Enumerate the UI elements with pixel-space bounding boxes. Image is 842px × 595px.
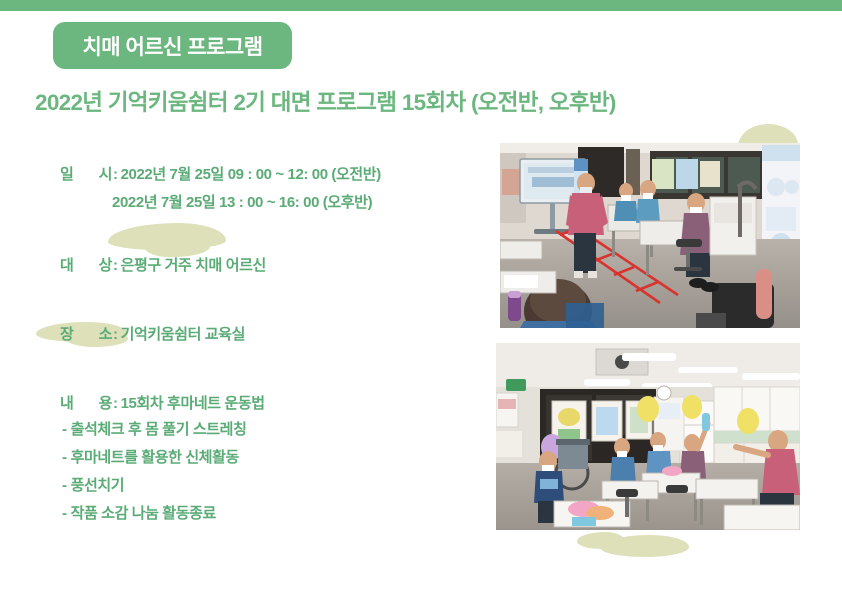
info-value-content: 15회차 후마네트 운동법: [121, 392, 265, 413]
list-item: -후마네트를 활용한 신체활동: [62, 446, 246, 467]
list-item-label: 풍선치기: [71, 477, 125, 494]
info-label-target: 대 상: [60, 254, 112, 275]
bullet-dash-icon: -: [62, 477, 71, 494]
info-row-target: 대 상 : 은평구 거주 치매 어르신: [60, 254, 381, 275]
list-item: -출석체크 후 몸 풀기 스트레칭: [62, 418, 246, 439]
bullet-dash-icon: -: [62, 505, 71, 522]
info-separator-place: :: [112, 326, 121, 343]
bullet-dash-icon: -: [62, 421, 71, 438]
program-category-badge: 치매 어르신 프로그램: [53, 22, 292, 69]
bullet-dash-icon: -: [62, 449, 71, 466]
info-label-place: 장 소: [60, 323, 112, 344]
info-label-content: 내 용: [60, 392, 112, 413]
activity-list: -출석체크 후 몸 풀기 스트레칭 -후마네트를 활용한 신체활동 -풍선치기 …: [62, 418, 246, 523]
list-item: -작품 소감 나눔 활동종료: [62, 502, 246, 523]
top-accent-bar: [0, 0, 842, 11]
info-row-datetime-second: 2022년 7월 25일 13 : 00 ~ 16: 00 (오후반): [60, 191, 381, 212]
info-separator-content: :: [112, 395, 121, 412]
program-category-label: 치매 어르신 프로그램: [82, 31, 262, 61]
list-item: -풍선치기: [62, 474, 246, 495]
list-item-label: 출석체크 후 몸 풀기 스트레칭: [71, 421, 247, 438]
info-row-datetime: 일 시 : 2022년 7월 25일 09 : 00 ~ 12: 00 (오전반…: [60, 163, 381, 184]
slide-canvas: 치매 어르신 프로그램 2022년 기억키움쉼터 2기 대면 프로그램 15회차…: [0, 0, 842, 595]
info-separator-target: :: [112, 257, 121, 274]
info-value-datetime-morning: 2022년 7월 25일 09 : 00 ~ 12: 00 (오전반): [121, 163, 381, 184]
info-value-place: 기억키움쉼터 교육실: [121, 323, 245, 344]
info-separator-datetime: :: [112, 166, 121, 183]
photo-2-illustration: [496, 343, 800, 530]
decorative-blob-4: [601, 535, 689, 557]
info-row-content: 내 용 : 15회차 후마네트 운동법: [60, 392, 381, 413]
info-label-datetime: 일 시: [60, 163, 112, 184]
photo-classroom-ladder-exercise: [500, 143, 800, 328]
program-info-block: 일 시 : 2022년 7월 25일 09 : 00 ~ 12: 00 (오전반…: [60, 163, 381, 413]
info-value-target: 은평구 거주 치매 어르신: [121, 254, 266, 275]
page-title: 2022년 기억키움쉼터 2기 대면 프로그램 15회차 (오전반, 오후반): [35, 85, 616, 117]
photo-1-illustration: [500, 143, 800, 328]
list-item-label: 작품 소감 나눔 활동종료: [71, 505, 216, 522]
list-item-label: 후마네트를 활용한 신체활동: [71, 449, 239, 466]
info-value-datetime-afternoon: 2022년 7월 25일 13 : 00 ~ 16: 00 (오후반): [112, 191, 372, 212]
photo-classroom-balloon-activity: [496, 343, 800, 530]
info-row-place: 장 소 : 기억키움쉼터 교육실: [60, 323, 381, 344]
